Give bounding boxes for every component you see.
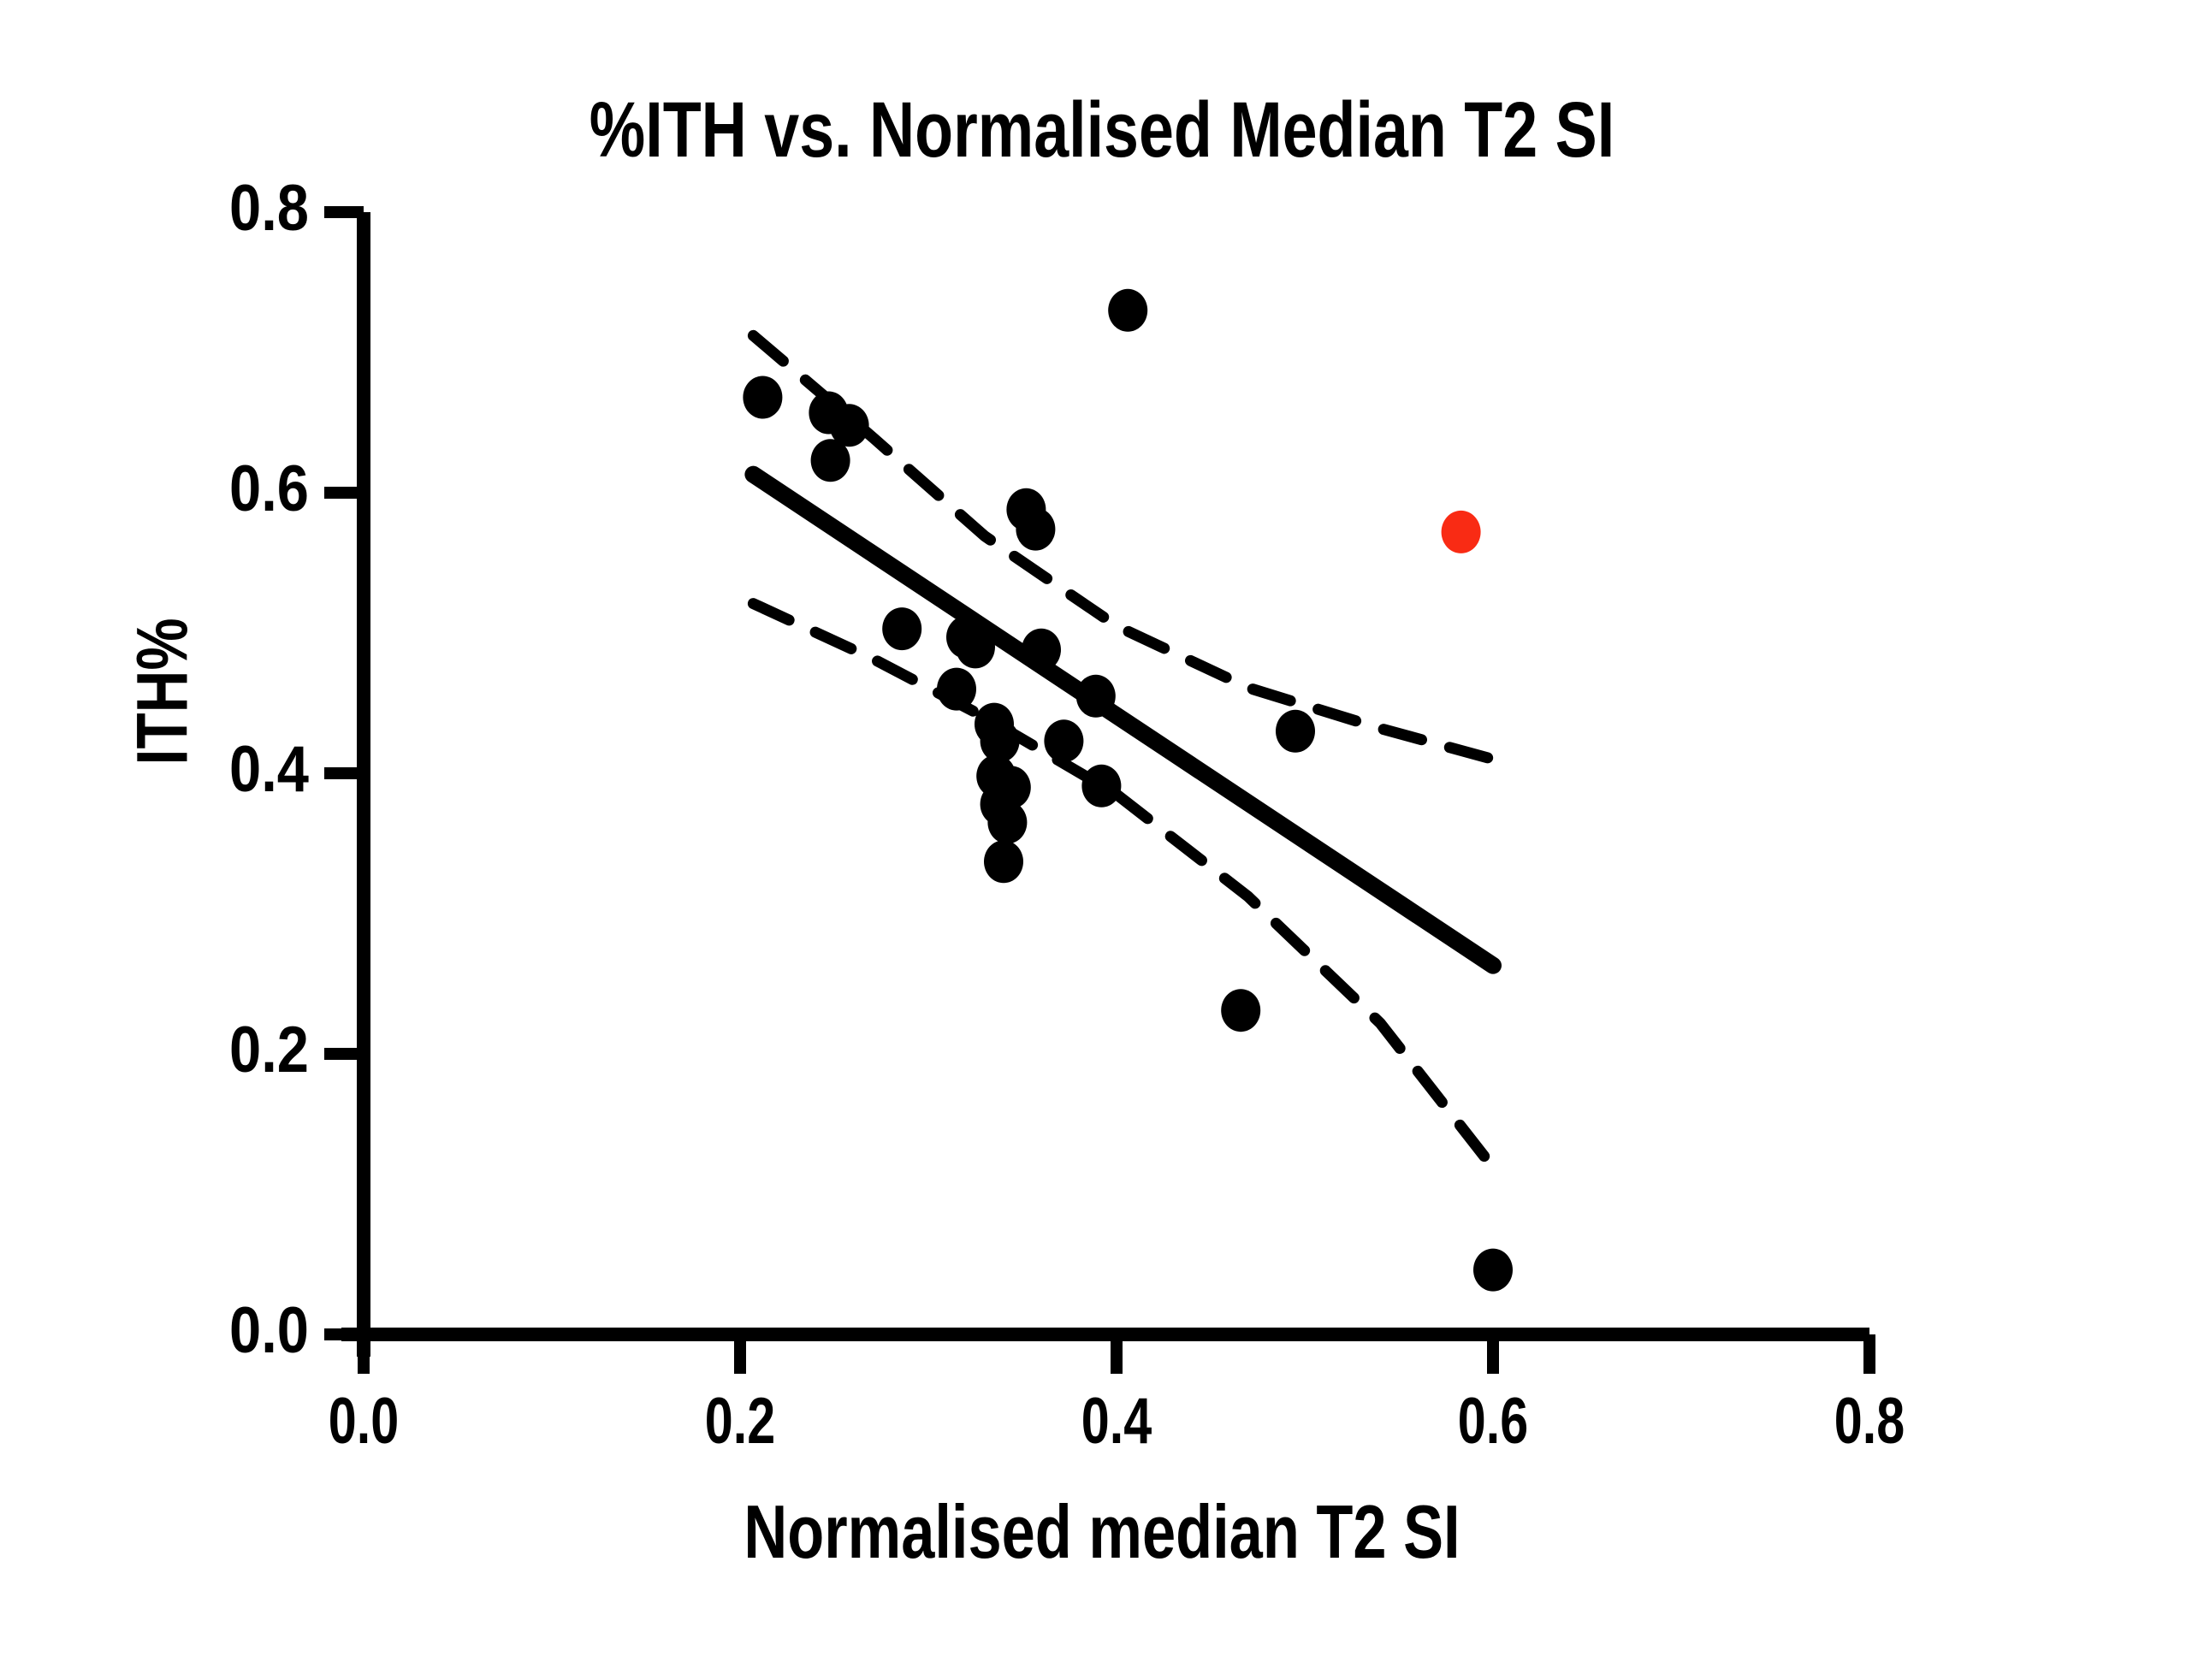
x-tick-label: 0.6 [1393, 1384, 1593, 1458]
chart-canvas: %ITH vs. Normalised Median T2 SI 0.00.20… [0, 0, 2204, 1680]
data-point-patients[interactable] [811, 439, 850, 482]
confidence-band-group [753, 335, 1493, 1168]
data-point-patients[interactable] [1044, 719, 1083, 762]
data-point-patients[interactable] [937, 668, 976, 711]
y-tick-label: 0.6 [83, 452, 309, 526]
data-point-patients[interactable] [1022, 629, 1061, 671]
data-point-patients[interactable] [984, 840, 1023, 883]
y-axis-title: ITH% [121, 517, 204, 867]
data-point-patients[interactable] [1108, 289, 1147, 332]
data-point-patients[interactable] [1276, 710, 1315, 753]
x-tick-label: 0.8 [1769, 1384, 1970, 1458]
x-tick-label: 0.4 [1016, 1384, 1217, 1458]
data-point-patients[interactable] [882, 607, 921, 650]
data-point-patients[interactable] [1076, 675, 1116, 718]
x-axis-title: Normalised median T2 SI [221, 1488, 1984, 1576]
y-tick-label: 0.2 [83, 1013, 309, 1087]
data-points-group [743, 289, 1513, 1292]
data-point-patients[interactable] [743, 376, 782, 419]
data-point-patients[interactable] [1221, 989, 1260, 1032]
data-point-patients[interactable] [1473, 1249, 1513, 1292]
data-point-patients[interactable] [1016, 508, 1055, 551]
y-tick-label: 0.8 [83, 171, 309, 245]
data-point-outlier[interactable] [1442, 511, 1481, 553]
y-tick-label: 0.0 [83, 1293, 309, 1368]
data-point-patients[interactable] [956, 625, 995, 668]
x-tick-label: 0.2 [640, 1384, 840, 1458]
x-tick-label: 0.0 [264, 1384, 464, 1458]
data-point-patients[interactable] [1081, 765, 1121, 807]
regression-line-group [753, 475, 1493, 966]
regression-line [753, 475, 1493, 966]
data-point-patients[interactable] [987, 801, 1027, 843]
